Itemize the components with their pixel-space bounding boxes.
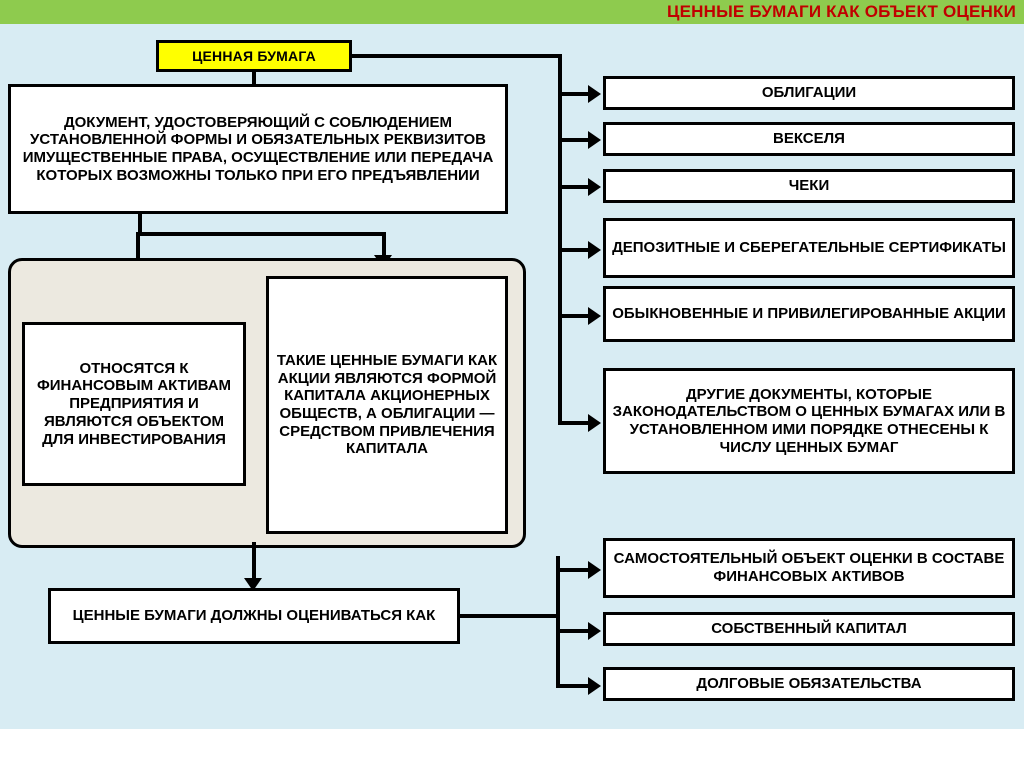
node-security-type-1-label: ОБЛИГАЦИИ — [612, 84, 1006, 102]
node-valuation-as-label: ЦЕННЫЕ БУМАГИ ДОЛЖНЫ ОЦЕНИВАТЬСЯ КАК — [57, 607, 451, 625]
node-security-type-3: ЧЕКИ — [603, 169, 1015, 203]
connector-definition-split — [138, 232, 386, 236]
connector-root-to-types-trunk — [350, 54, 562, 58]
node-valuation-object-3-label: ДОЛГОВЫЕ ОБЯЗАТЕЛЬСТВА — [612, 675, 1006, 693]
node-security-type-6-label: ДРУГИЕ ДОКУМЕНТЫ, КОТОРЫЕ ЗАКОНОДАТЕЛЬСТ… — [612, 386, 1006, 457]
node-valuation-object-1: САМОСТОЯТЕЛЬНЫЙ ОБЪЕКТ ОЦЕНКИ В СОСТАВЕ … — [603, 538, 1015, 598]
node-financial-assets-label: ОТНОСЯТСЯ К ФИНАНСОВЫМ АКТИВАМ ПРЕДПРИЯТ… — [31, 360, 237, 448]
node-security-type-1: ОБЛИГАЦИИ — [603, 76, 1015, 110]
node-shares-form: ТАКИЕ ЦЕННЫЕ БУМАГИ КАК АКЦИИ ЯВЛЯЮТСЯ Ф… — [266, 276, 508, 534]
connector-type-1 — [558, 92, 590, 96]
connector-type-5 — [558, 314, 590, 318]
node-definition-label: ДОКУМЕНТ, УДОСТОВЕРЯЮЩИЙ С СОБЛЮДЕНИЕМ У… — [17, 114, 499, 185]
node-valuation-object-3: ДОЛГОВЫЕ ОБЯЗАТЕЛЬСТВА — [603, 667, 1015, 701]
connector-object-1 — [556, 568, 590, 572]
connector-type-6 — [558, 421, 590, 425]
connector-type-3 — [558, 185, 590, 189]
node-shares-form-label: ТАКИЕ ЦЕННЫЕ БУМАГИ КАК АКЦИИ ЯВЛЯЮТСЯ Ф… — [275, 352, 499, 458]
node-financial-assets: ОТНОСЯТСЯ К ФИНАНСОВЫМ АКТИВАМ ПРЕДПРИЯТ… — [22, 322, 246, 486]
node-valuation-as: ЦЕННЫЕ БУМАГИ ДОЛЖНЫ ОЦЕНИВАТЬСЯ КАК — [48, 588, 460, 644]
node-security-type-6: ДРУГИЕ ДОКУМЕНТЫ, КОТОРЫЕ ЗАКОНОДАТЕЛЬСТ… — [603, 368, 1015, 474]
connector-object-2 — [556, 629, 590, 633]
connector-valuation-trunk-vertical — [556, 556, 560, 684]
arrow-right-type-3 — [588, 178, 601, 196]
connector-group-to-valuation — [252, 542, 256, 582]
connector-object-3 — [556, 684, 590, 688]
node-security-type-4-label: ДЕПОЗИТНЫЕ И СБЕРЕГАТЕЛЬНЫЕ СЕРТИФИКАТЫ — [612, 239, 1006, 257]
connector-root-to-definition — [252, 70, 256, 84]
connector-types-trunk-vertical — [558, 54, 562, 423]
node-valuation-object-2: СОБСТВЕННЫЙ КАПИТАЛ — [603, 612, 1015, 646]
arrow-right-type-5 — [588, 307, 601, 325]
node-security-type-3-label: ЧЕКИ — [612, 177, 1006, 195]
node-root-label: ЦЕННАЯ БУМАГА — [165, 48, 343, 65]
slide-canvas: ЦЕННЫЕ БУМАГИ КАК ОБЪЕКТ ОЦЕНКИ ЦЕННАЯ Б… — [0, 0, 1024, 767]
node-security-type-5: ОБЫКНОВЕННЫЕ И ПРИВИЛЕГИРОВАННЫЕ АКЦИИ — [603, 286, 1015, 342]
arrow-right-type-6 — [588, 414, 601, 432]
arrow-right-type-4 — [588, 241, 601, 259]
node-security-type-5-label: ОБЫКНОВЕННЫЕ И ПРИВИЛЕГИРОВАННЫЕ АКЦИИ — [612, 305, 1006, 323]
node-definition: ДОКУМЕНТ, УДОСТОВЕРЯЮЩИЙ С СОБЛЮДЕНИЕМ У… — [8, 84, 508, 214]
node-security-type-2-label: ВЕКСЕЛЯ — [612, 130, 1006, 148]
connector-valuation-to-trunk — [460, 614, 560, 618]
arrow-right-type-1 — [588, 85, 601, 103]
arrow-right-type-2 — [588, 131, 601, 149]
node-root: ЦЕННАЯ БУМАГА — [156, 40, 352, 72]
node-valuation-object-2-label: СОБСТВЕННЫЙ КАПИТАЛ — [612, 620, 1006, 638]
node-security-type-4: ДЕПОЗИТНЫЕ И СБЕРЕГАТЕЛЬНЫЕ СЕРТИФИКАТЫ — [603, 218, 1015, 278]
footer-band — [0, 729, 1024, 767]
connector-type-2 — [558, 138, 590, 142]
connector-type-4 — [558, 248, 590, 252]
arrow-right-object-2 — [588, 622, 601, 640]
arrow-right-object-3 — [588, 677, 601, 695]
page-title: ЦЕННЫЕ БУМАГИ КАК ОБЪЕКТ ОЦЕНКИ — [667, 2, 1016, 22]
node-valuation-object-1-label: САМОСТОЯТЕЛЬНЫЙ ОБЪЕКТ ОЦЕНКИ В СОСТАВЕ … — [612, 550, 1006, 585]
node-security-type-2: ВЕКСЕЛЯ — [603, 122, 1015, 156]
arrow-right-object-1 — [588, 561, 601, 579]
